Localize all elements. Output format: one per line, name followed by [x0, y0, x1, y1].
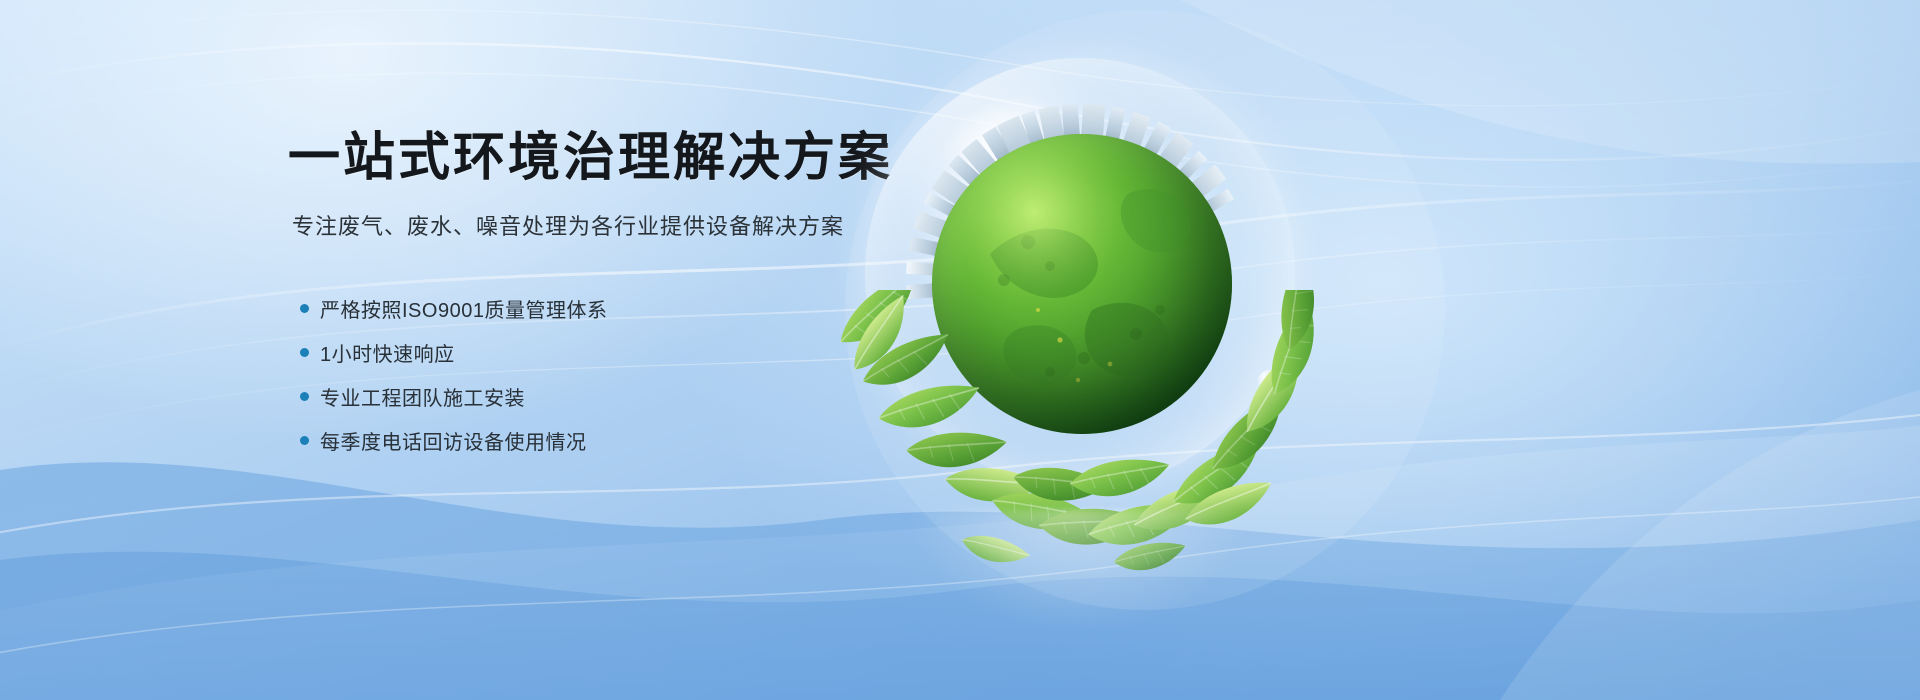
hero-artwork [840, 40, 1440, 660]
list-item: 每季度电话回访设备使用情况 [300, 419, 908, 461]
page-title: 一站式环境治理解决方案 [288, 128, 908, 189]
feature-list: 严格按照ISO9001质量管理体系 1小时快速响应 专业工程团队施工安装 每季度… [300, 287, 908, 461]
page-subtitle: 专注废气、废水、噪音处理为各行业提供设备解决方案 [292, 209, 908, 241]
hero-copy: 一站式环境治理解决方案 专注废气、废水、噪音处理为各行业提供设备解决方案 严格按… [288, 128, 908, 461]
list-item: 专业工程团队施工安装 [300, 375, 908, 417]
feature-label: 1小时快速响应 [320, 338, 455, 367]
bullet-dot-icon [300, 348, 309, 357]
bullet-dot-icon [300, 392, 309, 401]
feature-label: 严格按照ISO9001质量管理体系 [320, 294, 607, 323]
list-item: 1小时快速响应 [300, 331, 908, 373]
hero-banner: 一站式环境治理解决方案 专注废气、废水、噪音处理为各行业提供设备解决方案 严格按… [0, 0, 1920, 700]
list-item: 严格按照ISO9001质量管理体系 [300, 287, 908, 329]
bullet-dot-icon [300, 436, 309, 445]
bullet-dot-icon [300, 304, 309, 313]
globe-reflection [910, 510, 1250, 630]
feature-label: 每季度电话回访设备使用情况 [320, 426, 587, 455]
feature-label: 专业工程团队施工安装 [320, 382, 525, 411]
